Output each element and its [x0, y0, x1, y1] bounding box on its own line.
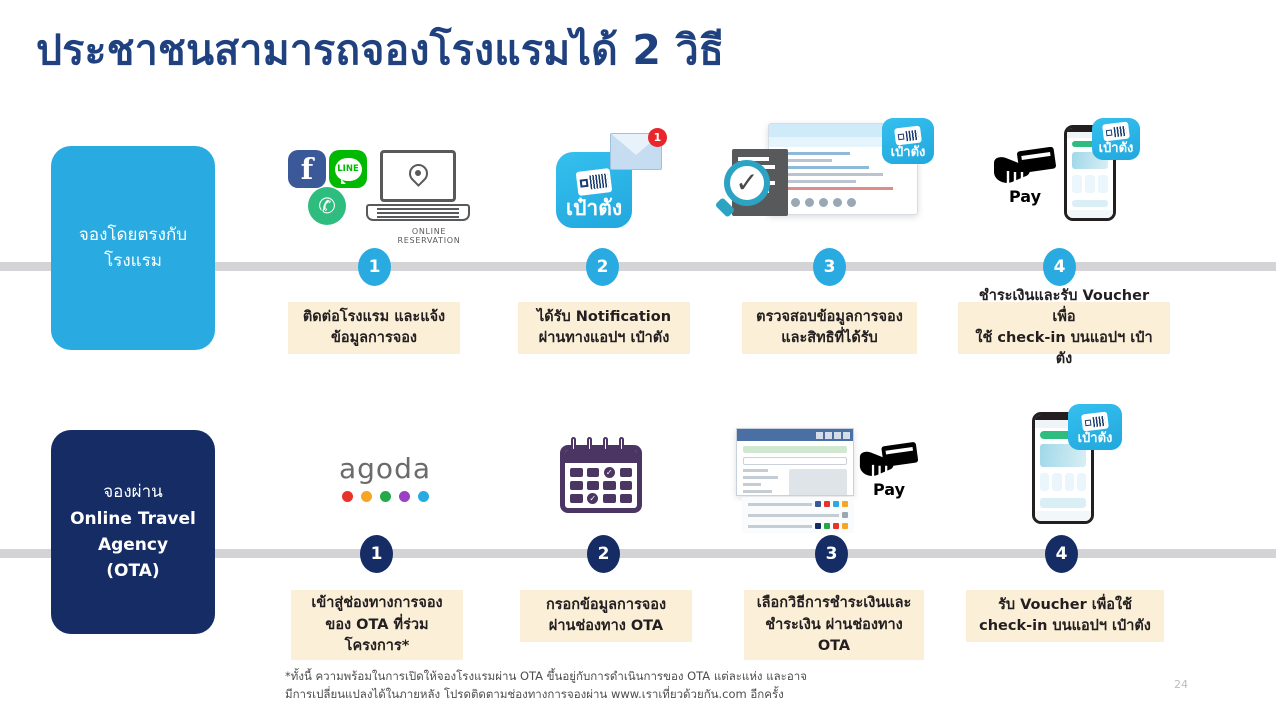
row2-step3-icon-cluster: Pay	[736, 428, 926, 533]
step-badge-row2-2[interactable]: 2	[587, 535, 620, 573]
laptop-caption: ONLINE RESERVATION	[380, 227, 478, 245]
caption-row1-4: ชำระเงินและรับ Voucher เพื่อ ใช้ check-i…	[958, 302, 1170, 354]
footnote: *ทั้งนี้ ความพร้อมในการเปิดให้จองโรงแรมผ…	[285, 668, 985, 704]
caption-row2-2: กรอกข้อมูลการจอง ผ่านช่องทาง OTA	[520, 590, 692, 642]
pay-card-icon-row2: Pay	[858, 442, 920, 499]
step-badge-row1-1[interactable]: 1	[358, 248, 391, 286]
step-badge-row1-3[interactable]: 3	[813, 248, 846, 286]
footnote-line-1: *ทั้งนี้ ความพร้อมในการเปิดให้จองโรงแรมผ…	[285, 668, 985, 686]
caption-row1-1: ติดต่อโรงแรม และแจ้ง ข้อมูลการจอง	[288, 302, 460, 354]
caption-row1-2: ได้รับ Notification ผ่านทางแอปฯ เป๋าตัง	[518, 302, 690, 354]
phone-call-icon: ✆	[308, 187, 346, 225]
paotang-badge-row1-step4: เป๋าตัง	[1092, 118, 1140, 160]
pay-label: Pay	[992, 187, 1058, 206]
step-badge-row1-2[interactable]: 2	[586, 248, 619, 286]
step-badge-row1-4[interactable]: 4	[1043, 248, 1076, 286]
ota-payment-options-list	[742, 497, 854, 533]
category-label-line2: โรงแรม	[104, 248, 162, 274]
ota-label-line1: จองผ่าน	[103, 479, 163, 505]
caption-row2-3: เลือกวิธีการชำระเงินและ ชำระเงิน ผ่านช่อ…	[744, 590, 924, 660]
line-icon: LINE	[329, 150, 367, 188]
ota-label-line3: Agency	[98, 532, 168, 558]
row1-step2-icon-cluster: เป๋าตัง 1	[556, 133, 676, 233]
slide-root: ประชาชนสามารถจองโรงแรมได้ 2 วิธี จองโดยต…	[0, 0, 1276, 709]
caption-row2-4: รับ Voucher เพื่อใช้ check-in บนแอปฯ เป๋…	[966, 590, 1164, 642]
agoda-wordmark: agoda	[330, 452, 440, 485]
footnote-line-2: มีการเปลี่ยนแปลงได้ในภายหลัง โปรดติดตามช…	[285, 686, 985, 704]
row2-step4-icon-cluster: เป๋าตัง	[1024, 404, 1144, 529]
category-label-line1: จองโดยตรงกับ	[79, 222, 187, 248]
caption-row1-3: ตรวจสอบข้อมูลการจอง และสิทธิที่ได้รับ	[742, 302, 917, 354]
pay-card-icon: Pay	[992, 147, 1058, 206]
step-badge-row2-4[interactable]: 4	[1045, 535, 1078, 573]
paotang-badge-row1-step3: เป๋าตัง	[882, 118, 934, 164]
laptop-online-reservation-icon: ONLINE RESERVATION	[380, 150, 478, 245]
pay-label-row2: Pay	[858, 480, 920, 499]
magnifier-check-icon: ✓	[724, 160, 770, 206]
ota-payment-browser-mockup	[736, 428, 854, 496]
category-box-direct-hotel[interactable]: จองโดยตรงกับ โรงแรม	[51, 146, 215, 350]
page-number: 24	[1174, 678, 1188, 691]
calendar-icon	[560, 437, 642, 513]
step-badge-row2-3[interactable]: 3	[815, 535, 848, 573]
step-badge-row2-1[interactable]: 1	[360, 535, 393, 573]
row1-step4-icon-cluster: Pay เป๋าตัง	[992, 125, 1152, 235]
row1-step1-icon-cluster: f LINE ✆ ONLINE RESERVATION	[288, 146, 478, 246]
paotang-badge-row2-step4: เป๋าตัง	[1068, 404, 1122, 450]
category-box-ota[interactable]: จองผ่าน Online Travel Agency (OTA)	[51, 430, 215, 634]
row1-step3-icon-cluster: ✓ เป๋าตัง	[730, 118, 930, 233]
agoda-logo: agoda	[330, 452, 440, 502]
ota-label-line4: (OTA)	[106, 558, 159, 584]
page-title: ประชาชนสามารถจองโรงแรมได้ 2 วิธี	[36, 18, 724, 83]
facebook-icon: f	[288, 150, 326, 188]
agoda-dots	[330, 491, 440, 502]
caption-row2-1: เข้าสู่ช่องทางการจอง ของ OTA ที่ร่วม โคร…	[291, 590, 463, 660]
notification-badge: 1	[648, 128, 667, 147]
ota-label-line2: Online Travel	[70, 506, 196, 532]
